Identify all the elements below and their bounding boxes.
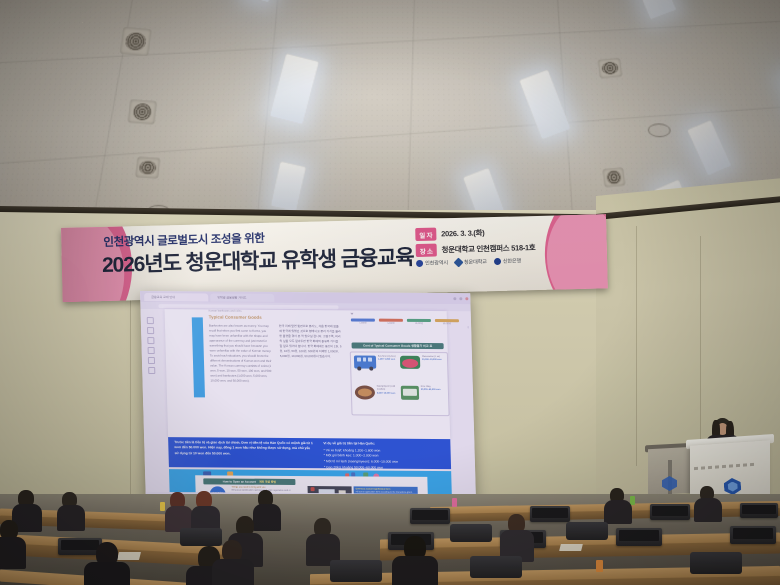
sidebar-tool-icon[interactable] [147, 327, 154, 334]
slide2-title-bar: How to Open an Account 계좌 개설 방법 [203, 478, 295, 485]
document-column-english: Banknotes are also known as money. You m… [209, 323, 273, 383]
rice-bag-icon [401, 386, 419, 400]
person-body [253, 504, 281, 531]
denomination-swatch [407, 319, 431, 322]
projection-screen: 금융교육 교재 안내 유학생 금융생활 가이드 Korean banknotes… [140, 291, 476, 505]
denomination-chip: 5,000원 [379, 319, 403, 325]
bus-icon [354, 355, 376, 368]
watermelon-icon [400, 356, 420, 369]
denomination-chip: 50,000원 [435, 319, 459, 325]
lecture-hall-photo: 인천광역시 글로벌도시 조성을 위한 2026년도 청운대학교 유학생 금융교육… [0, 0, 780, 585]
sidebar-tool-icon[interactable] [148, 357, 155, 364]
wall-seam [700, 236, 701, 446]
document-column-korean: 한국 지폐 앞면 뒷면으로 분리도, 처음 한국에 왔을 때 한국에 있었던 것… [279, 324, 342, 359]
document-heading: Typical Consumer Goods [209, 314, 262, 319]
sidebar-tool-icon[interactable] [147, 317, 154, 324]
caption-left-text: Trước tiên là tiền tệ và giao dịch tài c… [174, 440, 315, 457]
lecture-hall-floor [0, 494, 780, 585]
denomination-swatch [351, 318, 375, 321]
seat-back [330, 560, 382, 582]
seat-back [450, 524, 492, 542]
denomination-swatch [435, 319, 459, 322]
person-body [84, 562, 130, 585]
sidebar-tool-icon[interactable] [148, 347, 155, 354]
denomination-label: 5,000원 [379, 322, 403, 325]
denomination-swatch [379, 319, 403, 322]
sidebar-tool-icon[interactable] [147, 337, 154, 344]
desk-monitor [740, 503, 778, 518]
denomination-chip: 1,000원 [351, 318, 375, 324]
noodle-bowl-icon [355, 385, 375, 399]
desk-monitor [530, 506, 570, 522]
beverage-can [160, 502, 165, 511]
paper-handout [559, 544, 583, 551]
caption-right-heading: Ví dụ về giá trị tiền tại Hàn Quốc: [323, 441, 448, 448]
denomination-label: 1,000원 [351, 322, 375, 325]
desk-monitor [616, 528, 662, 546]
person-body [392, 556, 438, 585]
minimize-button[interactable] [453, 297, 456, 300]
product-price: 20,000~30,000 won [422, 359, 442, 361]
person-body [0, 537, 26, 569]
desk-monitor [650, 504, 690, 520]
document-canvas: Korean banknotes and coins Typical Consu… [165, 309, 451, 439]
person-body [212, 559, 254, 585]
product-item: Bus fare (city bus) 1,200~1,600 won [354, 355, 398, 368]
page-number: 8 [467, 325, 469, 329]
product-price: 1,200~1,600 won [378, 359, 398, 361]
paper-handout [117, 552, 141, 560]
denominations-heading: ₩ [351, 312, 354, 315]
desk-monitor [730, 526, 776, 544]
product-item: Naengmyeon (cold noodles) 6,000~10,000 w… [355, 385, 397, 399]
person-body [57, 505, 85, 531]
product-item: Rice 20kg 50,000~60,000 won [401, 386, 441, 400]
slide2-title-ko: 계좌 개설 방법 [259, 480, 276, 484]
person-body [694, 498, 722, 522]
seat-back [566, 522, 608, 540]
event-banner: 인천광역시 글로벌도시 조성을 위한 2026년도 청운대학교 유학생 금융교육… [61, 214, 608, 302]
products-heading-text: Cost of Typical Consumer Goods 생활물가 비교 표 [363, 344, 432, 348]
denomination-chips: 1,000원 5,000원 10,000원 50,000원 [351, 318, 459, 325]
browser-tab-1-label: 금융교육 교재 안내 [151, 295, 205, 299]
product-item: Watermelon (1 ea) 20,000~30,000 won [400, 356, 442, 369]
subtitle-caption-band: Trước tiên là tiền tệ và giao dịch tài c… [168, 437, 451, 469]
desk-monitor [410, 508, 450, 524]
wall-seam [636, 226, 637, 466]
maximize-button[interactable] [459, 297, 462, 300]
product-price: 50,000~60,000 won [421, 389, 441, 391]
browser-tab-2-label: 유학생 금융생활 가이드 [217, 295, 271, 299]
beverage-can [452, 498, 457, 507]
sidebar-tool-icon[interactable] [148, 367, 155, 374]
slide2-title: How to Open an Account [223, 479, 256, 483]
banner-lighting [61, 214, 608, 302]
product-price: 6,000~10,000 won [377, 392, 397, 394]
denomination-label: 10,000원 [407, 322, 431, 325]
close-button[interactable] [465, 297, 468, 300]
products-heading-bar: Cost of Typical Consumer Goods 생활물가 비교 표 [352, 342, 444, 349]
denomination-label: 50,000원 [435, 323, 459, 326]
document-kicker: Korean banknotes and coins [209, 309, 242, 312]
denomination-chip: 10,000원 [407, 319, 431, 325]
address-input[interactable] [158, 304, 338, 309]
document-accent-bar [192, 317, 205, 397]
document-page: Korean banknotes and coins Typical Consu… [141, 309, 477, 505]
seat-back [690, 552, 742, 574]
caption-right-block: Ví dụ về giá trị tiền tại Hàn Quốc: * Vé… [323, 441, 449, 471]
beverage-can [596, 560, 603, 572]
seat-back [470, 556, 522, 578]
person-body [604, 500, 632, 524]
seat-back [180, 528, 222, 546]
